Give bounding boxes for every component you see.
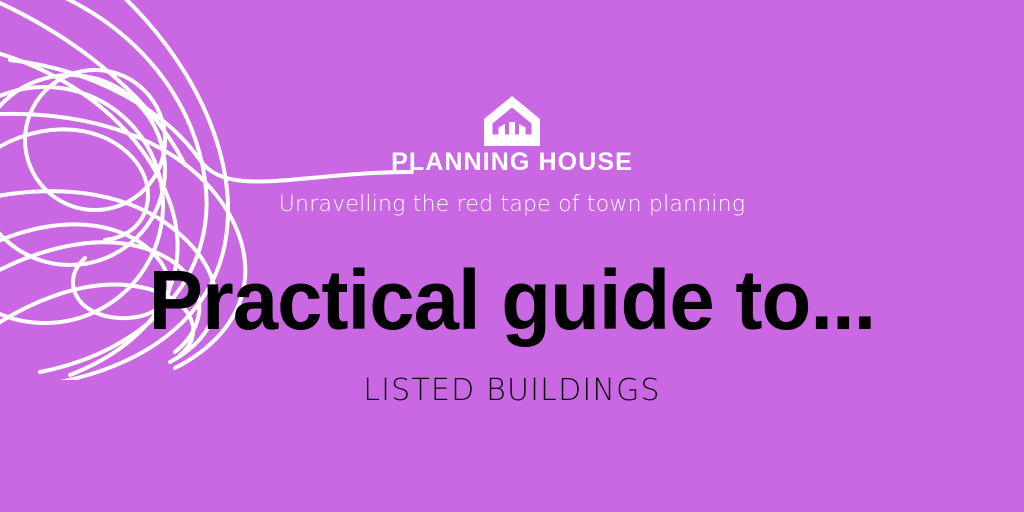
logo-wordmark: PLANNING HOUSE — [0, 150, 1024, 175]
promo-banner: PLANNING HOUSE Unravelling the red tape … — [0, 0, 1024, 512]
tagline: Unravelling the red tape of town plannin… — [0, 192, 1024, 218]
house-outline-icon — [484, 96, 540, 146]
headline: Practical guide to... — [15, 258, 1008, 342]
logo-block: PLANNING HOUSE — [0, 96, 1024, 175]
subtitle: LISTED BUILDINGS — [0, 374, 1024, 407]
